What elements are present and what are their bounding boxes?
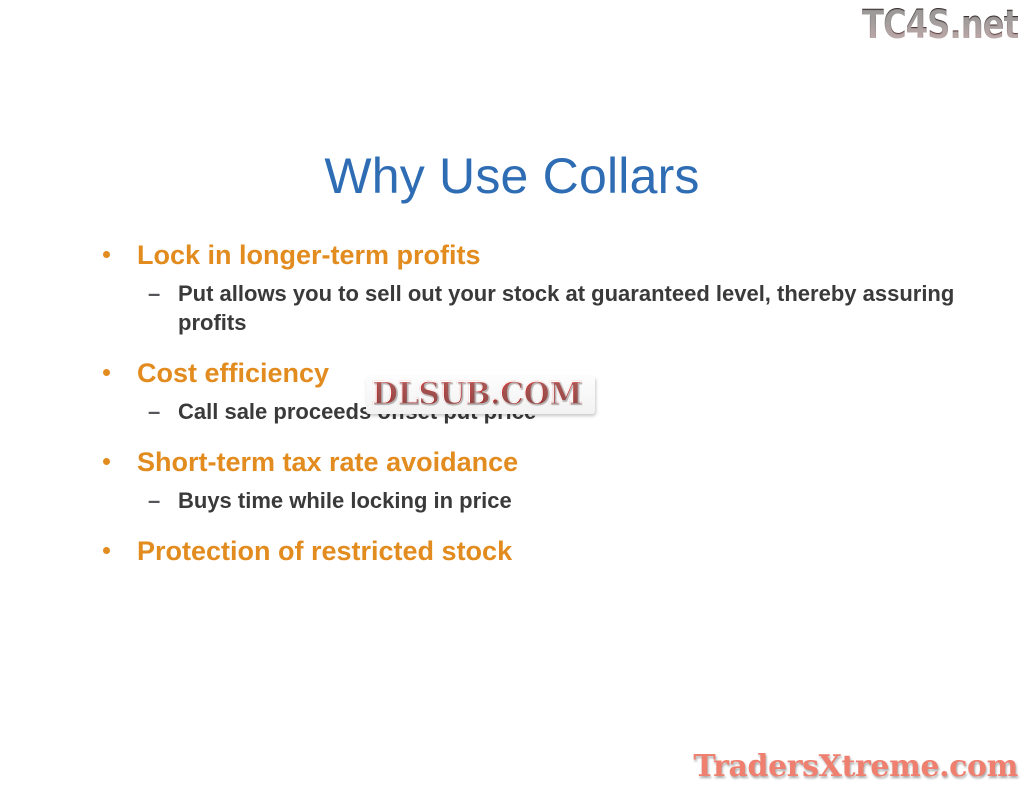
bullet-item-4: Protection of restricted stock bbox=[96, 534, 976, 568]
bullet-dot-icon bbox=[103, 369, 110, 376]
page-title: Why Use Collars bbox=[0, 146, 1024, 206]
slide-canvas: TC4S.net Why Use Collars Lock in longer-… bbox=[0, 0, 1024, 791]
dlsub-watermark-label: DLSUB.COM bbox=[372, 378, 582, 411]
bullet-item-2-label: Cost efficiency bbox=[137, 356, 329, 390]
dash-marker-icon: – bbox=[148, 486, 160, 515]
subbullet-item-1-1: – Put allows you to sell out your stock … bbox=[96, 279, 976, 337]
subbullet-item-1-1-label: Put allows you to sell out your stock at… bbox=[178, 281, 954, 335]
bullet-item-1: Lock in longer-term profits bbox=[96, 238, 976, 272]
tc4s-watermark: TC4S.net bbox=[862, 2, 1018, 48]
bullet-item-3-label: Short-term tax rate avoidance bbox=[137, 445, 518, 479]
dash-marker-icon: – bbox=[148, 397, 160, 426]
dlsub-watermark: DLSUB.COM bbox=[366, 376, 595, 414]
tradersxtreme-watermark: TradersXtreme.com bbox=[693, 749, 1018, 785]
bullet-item-4-label: Protection of restricted stock bbox=[137, 534, 512, 568]
bullet-item-3: Short-term tax rate avoidance bbox=[96, 445, 976, 479]
bullet-dot-icon bbox=[103, 458, 110, 465]
bullet-item-1-label: Lock in longer-term profits bbox=[137, 238, 481, 272]
bullet-dot-icon bbox=[103, 547, 110, 554]
subbullet-item-3-1-label: Buys time while locking in price bbox=[178, 488, 512, 513]
bullet-dot-icon bbox=[103, 251, 110, 258]
dash-marker-icon: – bbox=[148, 279, 160, 308]
subbullet-item-3-1: – Buys time while locking in price bbox=[96, 486, 976, 515]
